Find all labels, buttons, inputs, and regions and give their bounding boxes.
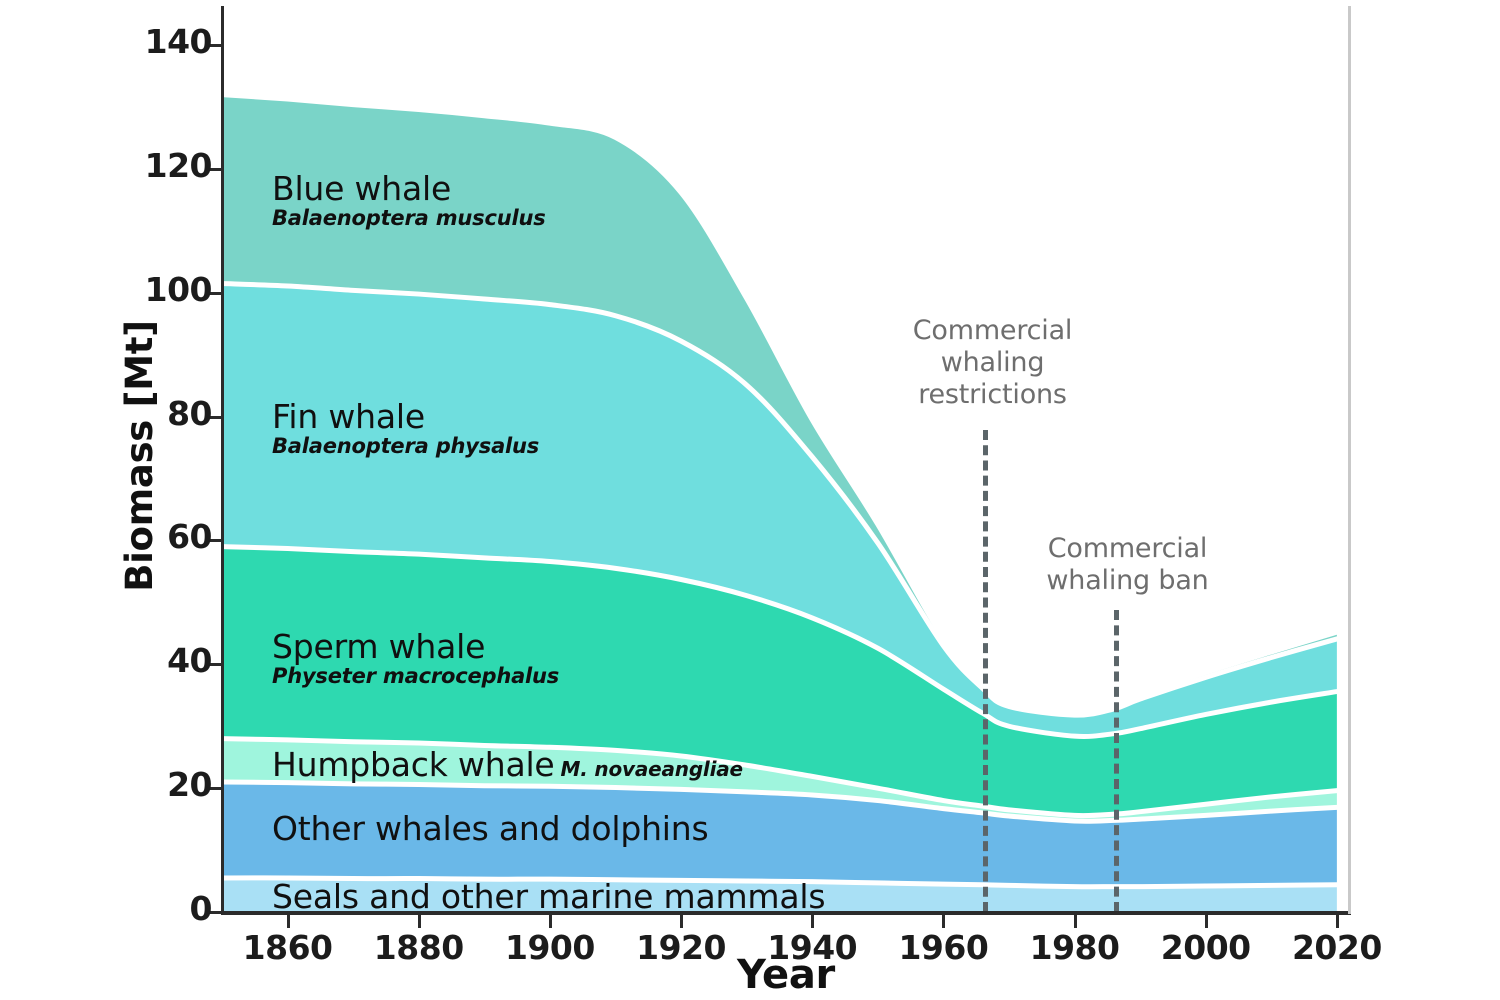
- right-spine: [1348, 6, 1351, 914]
- y-tick-label: 0: [190, 889, 212, 928]
- y-axis-spine: [221, 6, 224, 914]
- x-axis-title: Year: [222, 952, 1350, 998]
- y-axis-title: Biomass [Mt]: [118, 4, 178, 908]
- x-tick-mark: [680, 914, 683, 928]
- x-tick-mark: [1205, 914, 1208, 928]
- area-bands-group: [222, 95, 1337, 912]
- stacked-area-svg: [222, 8, 1350, 912]
- vline-whaling-restrictions: [983, 430, 988, 912]
- x-tick-mark: [287, 914, 290, 928]
- x-tick-mark: [811, 914, 814, 928]
- chart-root: 020406080100120140 186018801900192019401…: [0, 0, 1500, 1000]
- x-axis-spine: [221, 911, 1351, 915]
- plot-area: [222, 8, 1350, 912]
- x-tick-mark: [549, 914, 552, 928]
- annotation-whaling-ban: Commercial whaling ban: [1010, 533, 1245, 597]
- x-tick-mark: [942, 914, 945, 928]
- x-tick-mark: [418, 914, 421, 928]
- x-tick-mark: [1074, 914, 1077, 928]
- annotation-whaling-restrictions: Commercial whaling restrictions: [875, 315, 1110, 411]
- x-tick-mark: [1336, 914, 1339, 928]
- vline-whaling-ban: [1114, 610, 1119, 912]
